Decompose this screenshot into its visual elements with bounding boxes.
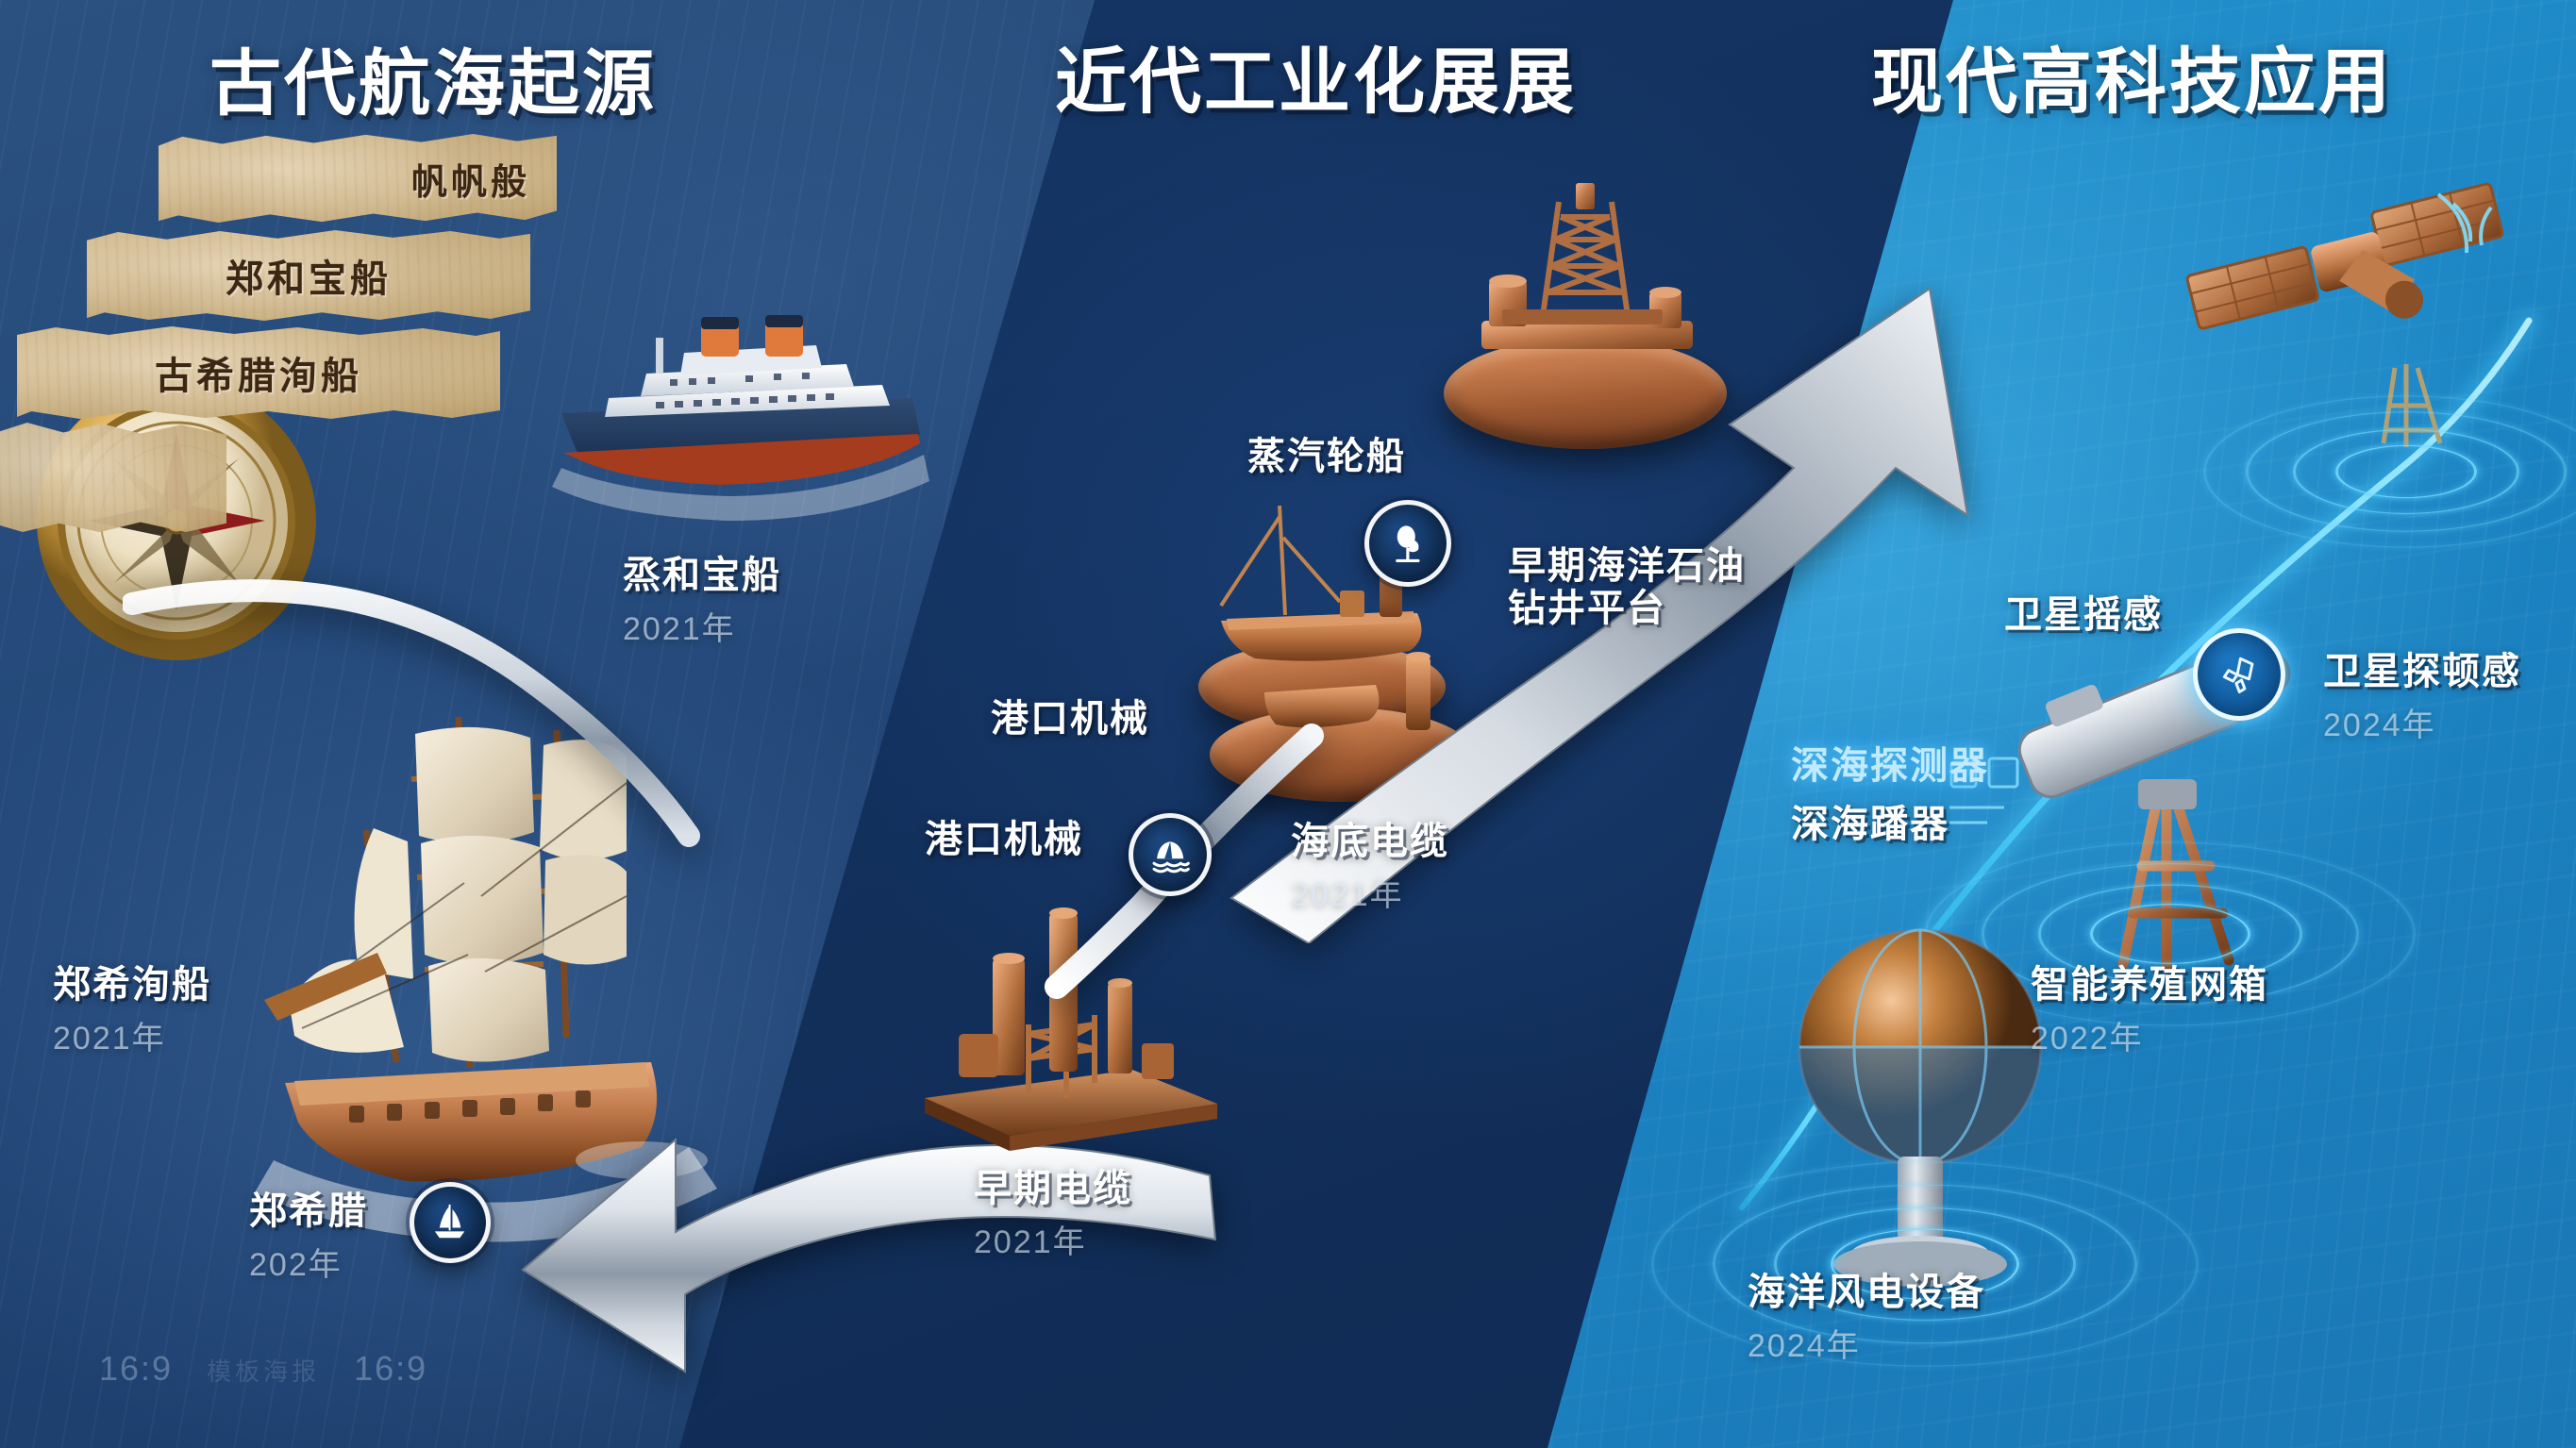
parchment-label-3-text: 古希腊洵船	[155, 345, 362, 400]
caption-year: 202年	[249, 1239, 368, 1285]
badge-sailing-ship[interactable]	[410, 1182, 491, 1263]
caption-title: 港口机械	[925, 819, 1083, 861]
caption-satellite-detection: 卫星探顿感 2024年	[2323, 651, 2521, 745]
caption-year: 2024年	[1748, 1320, 1985, 1366]
parchment-label-2-text: 郑和宝船	[226, 248, 392, 303]
caption-title: 智能养殖网箱	[2031, 964, 2268, 1007]
caption-greek-ship: 郑希洵船 2021年	[53, 964, 211, 1058]
caption-offshore-oil-platform: 早期海洋石油 钻井平台	[1508, 545, 1746, 630]
sailing-ship-icon	[427, 1200, 472, 1244]
connector-arrow-ancient	[123, 566, 708, 849]
parchment-label-1-text: 帆帆般	[411, 153, 530, 205]
cruise-liner-illustration	[543, 292, 939, 528]
caption-title: 早期海洋石油 钻井平台	[1508, 545, 1746, 630]
caption-title: 港口机械	[991, 698, 1149, 741]
watermark-right: 16:9	[354, 1349, 427, 1388]
parchment-label-3: 古希腊洵船	[17, 325, 500, 420]
caption-year: 2024年	[2323, 699, 2521, 745]
caption-greek: 郑希腊 202年	[249, 1190, 368, 1285]
caption-title: 郑希洵船	[53, 964, 211, 1007]
caption-title: 郑希腊	[249, 1190, 368, 1233]
caption-title: 卫星探顿感	[2323, 651, 2521, 693]
parchment-label-1: 帆帆般	[159, 133, 557, 224]
parchment-scrap-4	[0, 423, 226, 532]
caption-deep-sea-device: 深海蹯器	[1791, 804, 1949, 846]
caption-port-machinery-upper: 港口机械	[991, 698, 1149, 741]
caption-deep-sea-detector: 深海探测器	[1791, 745, 1989, 788]
watermark-middle: 模板海报	[207, 1357, 320, 1386]
watermark-left: 16:9	[99, 1349, 173, 1388]
caption-year: 2021年	[623, 603, 781, 649]
caption-title: 深海探测器	[1791, 745, 1989, 788]
badge-harbor-crane[interactable]	[1129, 813, 1212, 896]
caption-steamship: 蒸汽轮船	[1247, 436, 1406, 478]
caption-title: 深海蹯器	[1791, 804, 1949, 846]
caption-title: 卫星摇感	[2004, 594, 2163, 637]
caption-title: 蒸汽轮船	[1247, 436, 1406, 478]
harbor-crane-icon	[1147, 832, 1193, 877]
section-title-modern: 现代高科技应用	[1871, 47, 2393, 119]
caption-port-machinery-lower: 港口机械	[925, 819, 1083, 861]
caption-title: 海洋风电设备	[1748, 1272, 1985, 1314]
parchment-label-2: 郑和宝船	[87, 229, 530, 322]
caption-early-cable: 早期电缆 2021年	[974, 1168, 1132, 1262]
caption-year: 2021年	[974, 1216, 1132, 1262]
badge-satellite[interactable]	[2193, 628, 2285, 721]
satellite-icon	[2214, 649, 2266, 701]
caption-year: 2021年	[53, 1012, 211, 1058]
caption-year: 2022年	[2031, 1012, 2268, 1058]
caption-year: 2021年	[1291, 869, 1449, 915]
caption-offshore-wind-equipment: 海洋风电设备 2024年	[1748, 1272, 1985, 1366]
section-title-ancient: 古代航海起源	[209, 49, 657, 121]
caption-title: 海底电缆	[1291, 821, 1449, 863]
caption-zhenghe-treasure-ship: 烝和宝船 2021年	[623, 555, 781, 649]
satellite-illustration	[2170, 179, 2548, 462]
watermark: 16:9 模板海报 16:9	[99, 1349, 427, 1389]
section-title-industry: 近代工业化展展	[1055, 47, 1577, 119]
caption-satellite-remote-sensing: 卫星摇感	[2004, 594, 2163, 637]
caption-title: 烝和宝船	[623, 555, 781, 597]
infographic-canvas: 帆帆般 郑和宝船 古希腊洵船	[0, 0, 2576, 1448]
badge-oil-derrick[interactable]	[1364, 500, 1451, 587]
caption-title: 早期电缆	[974, 1168, 1132, 1210]
caption-submarine-cable: 海底电缆 2021年	[1291, 821, 1449, 915]
oil-derrick-icon	[1384, 520, 1432, 568]
caption-smart-aquaculture-cage: 智能养殖网箱 2022年	[2031, 964, 2268, 1058]
